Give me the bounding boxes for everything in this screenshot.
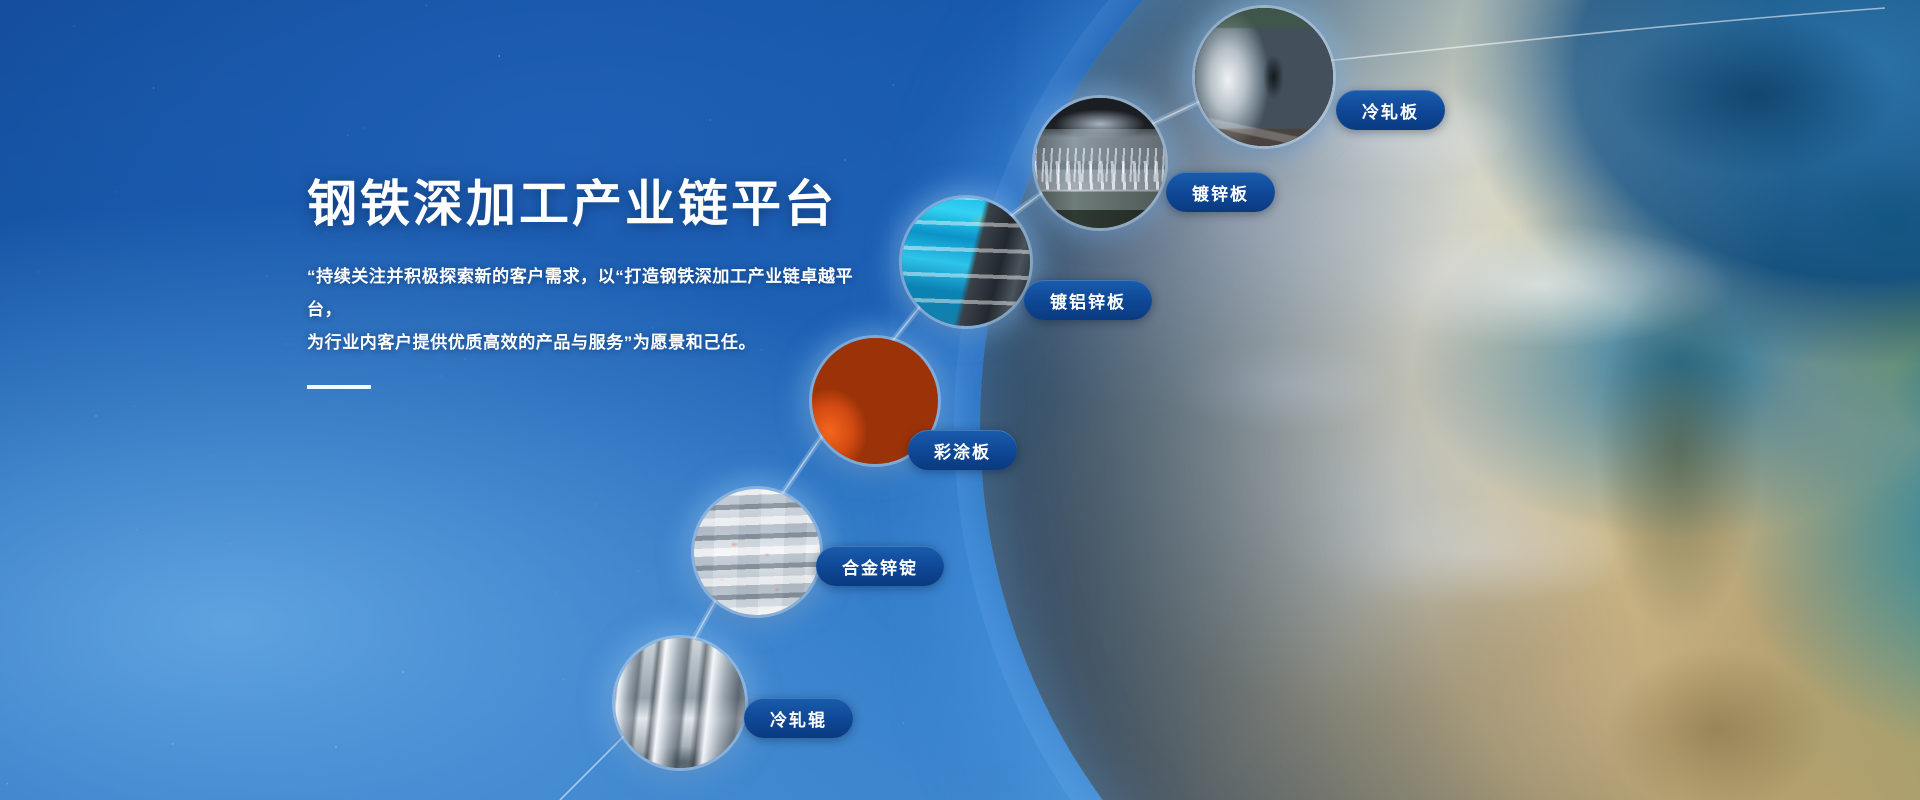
title-underline-rule [307,385,371,389]
hero-subtitle-line2: 为行业内客户提供优质高效的产品与服务”为愿景和己任。 [307,326,867,359]
steel-coil-icon[interactable] [1195,8,1333,146]
zinc-ingot-icon[interactable] [694,489,820,615]
cold-rolling-rolls-photo [615,638,745,768]
chain-label-cold-rolling-roll[interactable]: 冷轧辊 [744,698,853,738]
hero-subtitle: “持续关注并积极探索新的客户需求，以“打造钢铁深加工产业链卓越平台， 为行业内客… [307,260,867,359]
zinc-ingots-photo [694,489,820,615]
cold-rolled-coils-photo [1195,8,1333,146]
aluzinc-coils-photo [902,198,1030,326]
galvanized-warehouse-photo [1035,98,1165,228]
chain-label-galvanized-sheet[interactable]: 镀锌板 [1166,172,1275,212]
hero-subtitle-line1: “持续关注并积极探索新的客户需求，以“打造钢铁深加工产业链卓越平台， [307,267,853,319]
chain-label-prepainted-sheet[interactable]: 彩涂板 [908,430,1017,470]
page-title: 钢铁深加工产业链平台 [307,176,907,232]
chain-label-zinc-alloy-ingot[interactable]: 合金锌锭 [816,546,944,586]
blue-coil-icon[interactable] [902,198,1030,326]
hero-banner: 冷轧板 镀锌板 镀铝锌板 彩涂板 合金锌锭 冷轧辊 钢铁深加工 [0,0,1920,800]
warehouse-coils-icon[interactable] [1035,98,1165,228]
chain-label-aluzinc-sheet[interactable]: 镀铝锌板 [1024,280,1152,320]
hero-copy-block: 钢铁深加工产业链平台 “持续关注并积极探索新的客户需求，以“打造钢铁深加工产业链… [307,176,907,389]
steel-roll-icon[interactable] [615,638,745,768]
chain-label-cold-rolled-sheet[interactable]: 冷轧板 [1336,90,1445,130]
